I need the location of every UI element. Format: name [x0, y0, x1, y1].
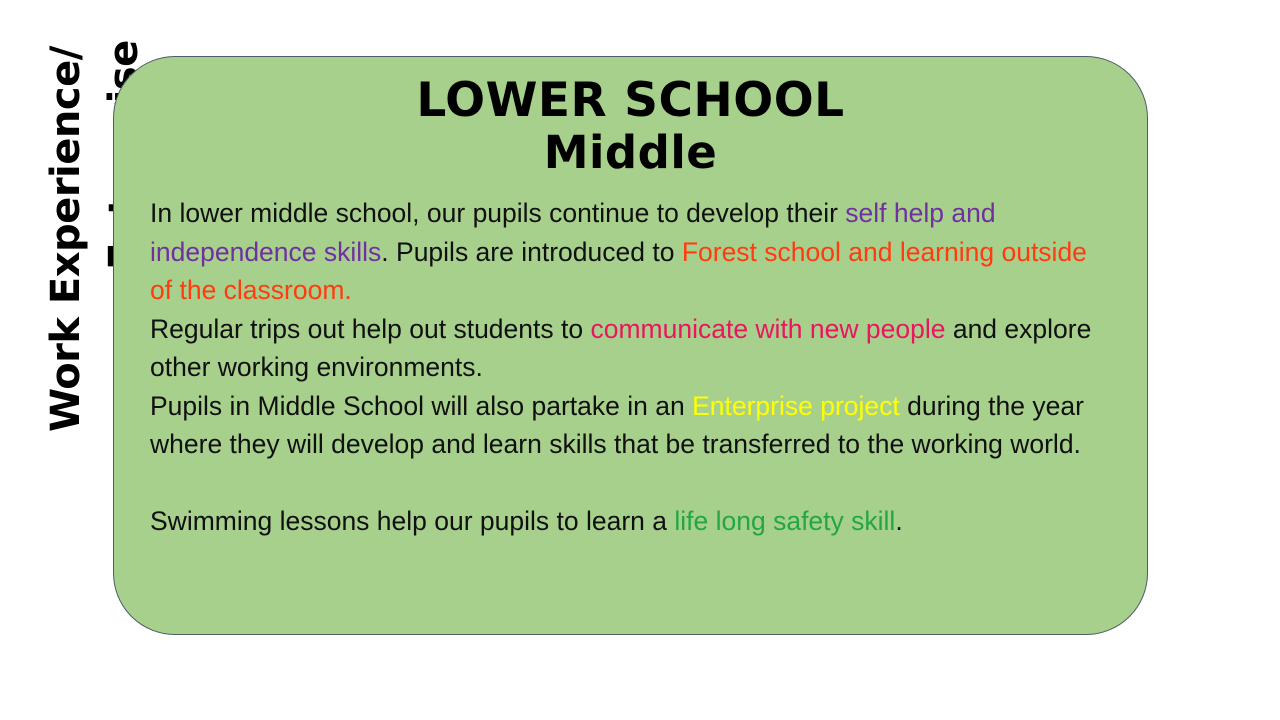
p1-text-1: In lower middle school, our pupils conti…	[150, 198, 845, 228]
p3-text-1: Pupils in Middle School will also partak…	[150, 391, 692, 421]
page-title-main: LOWER SCHOOL	[114, 57, 1147, 126]
paragraph-1: In lower middle school, our pupils conti…	[150, 194, 1115, 310]
page-title-sub: Middle	[114, 126, 1147, 177]
side-label-group: Work Experience/ Enterprise	[0, 0, 130, 720]
content-card: LOWER SCHOOL Middle In lower middle scho…	[113, 56, 1148, 635]
p1-text-2: . Pupils are introduced to	[381, 237, 682, 267]
p2-highlight-communicate: communicate with new people	[590, 314, 945, 344]
p4-highlight-safety-skill: life long safety skill	[674, 506, 895, 536]
paragraph-4: Swimming lessons help our pupils to lear…	[150, 502, 1115, 541]
paragraph-2: Regular trips out help out students to c…	[150, 310, 1115, 387]
side-label-line-work-experience: Work Experience/	[46, 46, 86, 432]
p2-text-1: Regular trips out help out students to	[150, 314, 590, 344]
paragraph-3: Pupils in Middle School will also partak…	[150, 387, 1115, 464]
p4-text-2: .	[895, 506, 902, 536]
p3-highlight-enterprise-project: Enterprise project	[692, 391, 900, 421]
paragraph-spacer	[150, 464, 1115, 502]
p4-text-1: Swimming lessons help our pupils to lear…	[150, 506, 674, 536]
body-copy: In lower middle school, our pupils conti…	[150, 194, 1115, 540]
